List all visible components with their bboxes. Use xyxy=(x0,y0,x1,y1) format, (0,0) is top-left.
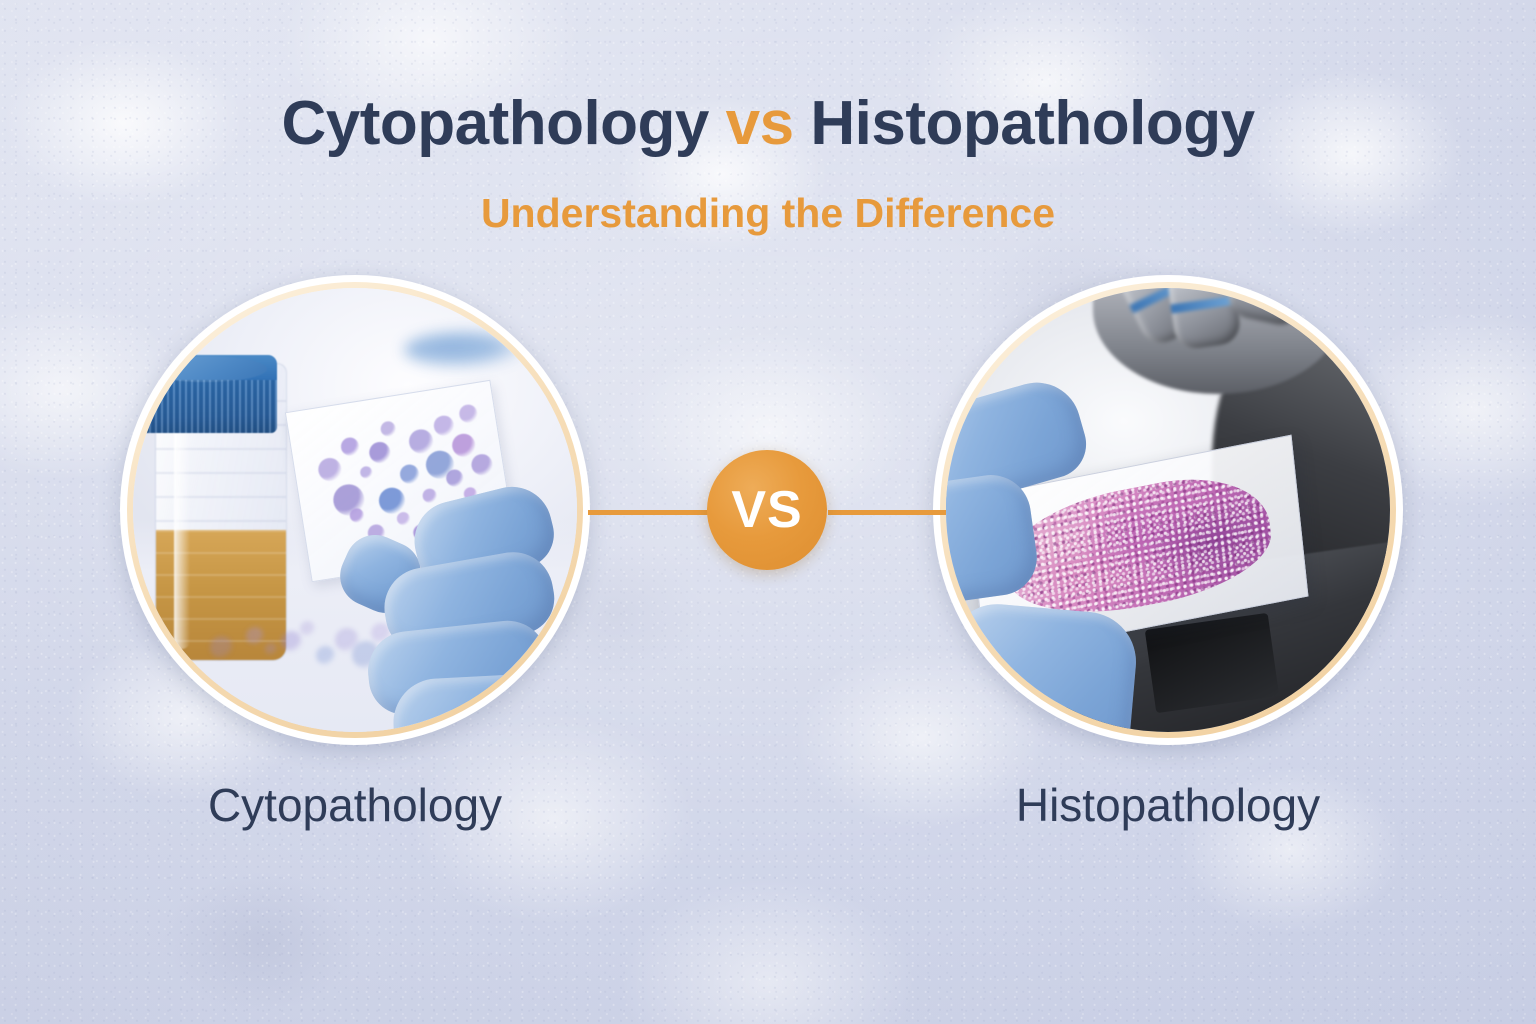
title-vs-word: vs xyxy=(726,89,794,158)
medallion-histopathology xyxy=(933,275,1403,745)
bench-stained-cell xyxy=(246,627,264,645)
gloved-hand-left xyxy=(337,483,577,732)
histopathology-photo xyxy=(946,288,1390,732)
objective-band-2 xyxy=(1171,296,1238,314)
stained-cell xyxy=(450,431,476,457)
connector-line-right xyxy=(828,510,946,515)
stained-cell xyxy=(379,420,396,437)
stage-aperture xyxy=(1145,613,1280,714)
stained-cell xyxy=(399,462,421,484)
caption-cytopathology: Cytopathology xyxy=(120,778,590,832)
bench-stained-cell xyxy=(210,636,233,659)
cytopathology-photo xyxy=(133,288,577,732)
bench-stained-cell xyxy=(281,631,302,652)
stained-cell xyxy=(317,456,343,482)
stained-cell xyxy=(340,436,361,457)
title-part-cytopathology: Cytopathology xyxy=(281,89,708,158)
cytology-scene xyxy=(133,288,577,732)
objective-band-3 xyxy=(1231,288,1305,297)
infographic-poster: Cytopathology vs Histopathology Understa… xyxy=(0,0,1536,1024)
stained-cell xyxy=(470,453,494,477)
vs-badge: VS xyxy=(707,450,827,570)
blurred-blue-object xyxy=(404,332,524,368)
gloved-hand-right xyxy=(946,395,1124,732)
container-blue-cap xyxy=(137,355,277,433)
medallion-ring-left xyxy=(127,282,583,738)
stained-cell xyxy=(458,403,479,424)
histology-scene xyxy=(946,288,1390,732)
medallion-ring-right xyxy=(940,282,1396,738)
stained-cell xyxy=(359,465,373,479)
connector-line-left xyxy=(588,510,708,515)
glove-thumb-bottom xyxy=(946,600,1140,732)
bench-stained-cell xyxy=(265,643,277,655)
glove-finger-middle xyxy=(946,470,1042,611)
stained-cell xyxy=(433,414,456,437)
stained-cell xyxy=(368,439,392,463)
page-title: Cytopathology vs Histopathology xyxy=(0,88,1536,159)
stained-cell xyxy=(408,428,435,455)
cap-top-surface xyxy=(143,356,267,382)
page-subtitle: Understanding the Difference xyxy=(0,190,1536,237)
bench-stained-cell xyxy=(316,646,335,665)
title-part-histopathology: Histopathology xyxy=(810,89,1254,158)
vs-badge-label: VS xyxy=(731,484,802,536)
caption-histopathology: Histopathology xyxy=(933,778,1403,832)
medallion-cytopathology xyxy=(120,275,590,745)
bench-stained-cell xyxy=(300,621,315,636)
